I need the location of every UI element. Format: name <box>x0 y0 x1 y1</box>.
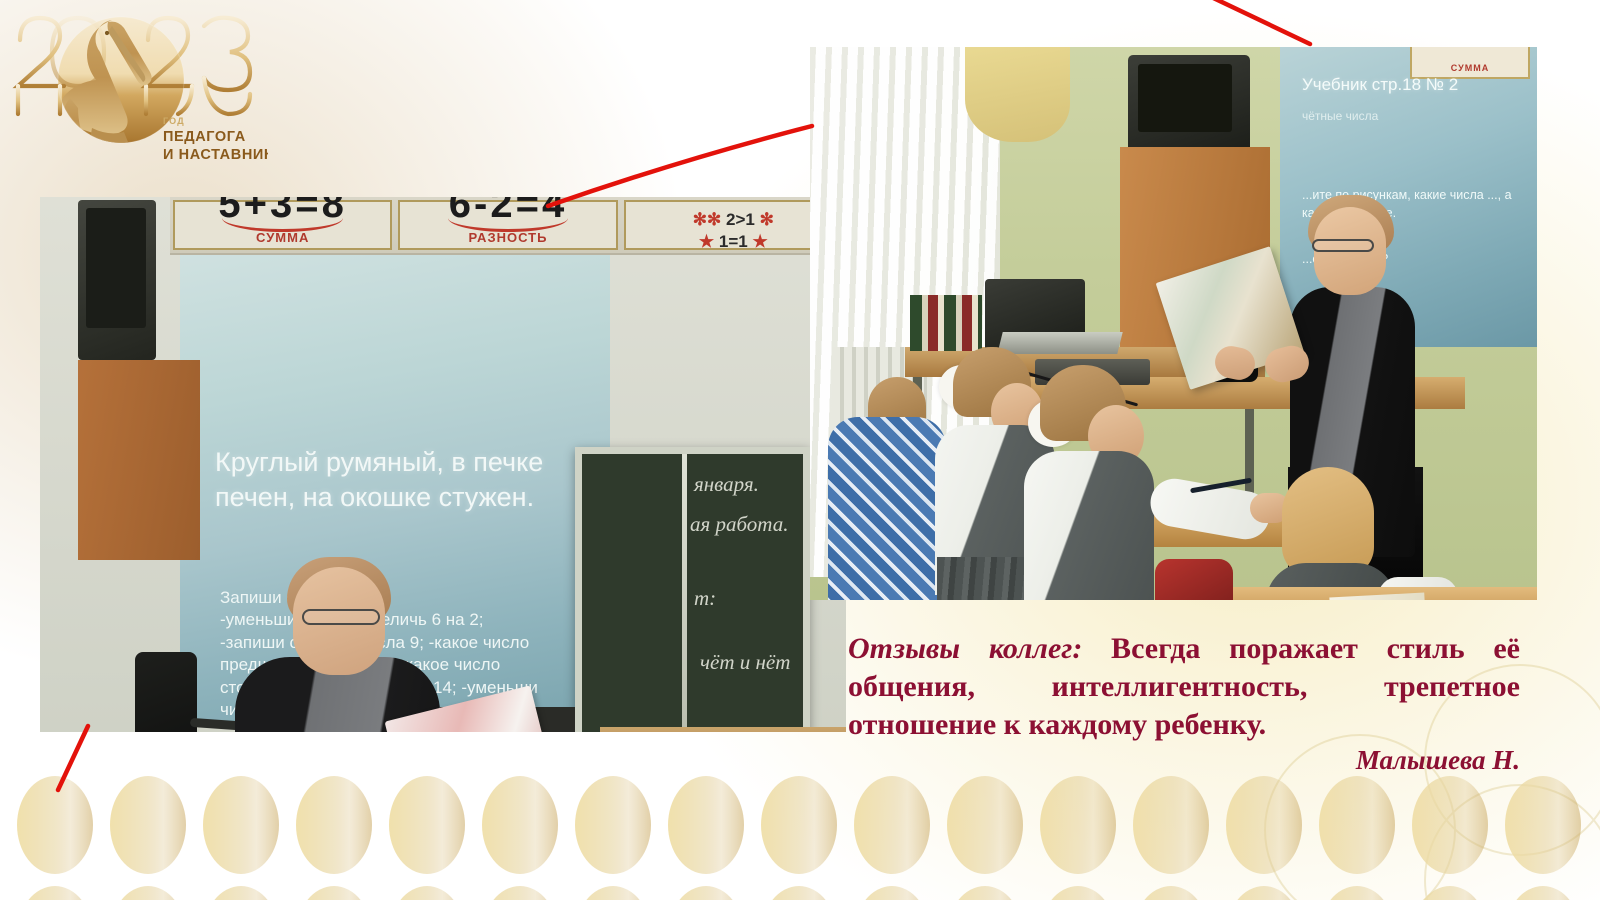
poster-comparison-top: 2>1 <box>726 210 755 229</box>
blackboard-divider <box>682 454 687 732</box>
star-icon: ★ <box>752 232 767 251</box>
task-line: -уменьши 8 на 3; -увеличь 6 на 2; <box>220 609 600 631</box>
slide-canvas: ГОД ПЕДАГОГА И НАСТАВНИКА 5+3=8 СУММА 6-… <box>0 0 1600 900</box>
student-desk <box>600 727 846 732</box>
red-curve-upper-left <box>548 126 812 206</box>
chalk-line: января. <box>694 472 759 497</box>
red-line-bottom-left <box>58 726 88 790</box>
photo-teacher-with-pupils: СУММА Учебник стр.18 № 2 чётные числа ..… <box>810 47 1537 600</box>
poster-summa: 5+3=8 СУММА <box>173 200 392 250</box>
logo-line-nastavnika: И НАСТАВНИКА <box>163 147 268 163</box>
logo-year-of-teacher: ГОД ПЕДАГОГА И НАСТАВНИКА <box>8 2 268 177</box>
poster-raznost-label: РАЗНОСТЬ <box>400 230 615 245</box>
projection-subtitle: чётные числа <box>1302 109 1532 123</box>
poster-comparison-bottom: 1=1 <box>719 232 748 251</box>
flower-icon: ✻✻ <box>693 210 722 229</box>
backpack <box>1155 559 1233 600</box>
flower-icon: ✻ <box>760 210 774 229</box>
bottom-ellipse-pattern <box>0 770 1600 900</box>
red-line-top-right <box>1205 0 1310 44</box>
laptop <box>997 332 1122 354</box>
poster-raznost: 6-2=4 РАЗНОСТЬ <box>398 200 617 250</box>
books-stack <box>910 295 982 351</box>
office-chair <box>135 652 197 732</box>
star-icon: ★ <box>699 232 714 251</box>
tv-screen <box>1138 64 1232 132</box>
task-line: Запиши ответы: <box>220 587 600 609</box>
teacher-glasses-icon <box>302 609 380 625</box>
poster-summa-label: СУММА <box>1412 63 1528 73</box>
photo-teacher-whiteboard: 5+3=8 СУММА 6-2=4 РАЗНОСТЬ ✻✻ 2>1 ✻ ★ 1=… <box>40 197 846 732</box>
wooden-cabinet <box>78 360 200 560</box>
wall-tv <box>1128 55 1250 153</box>
blackboard: января. ая работа. т: чёт и нёт <box>575 447 810 732</box>
projection-riddle-text: Круглый румяный, в печке печен, на окошк… <box>215 445 585 514</box>
wall-tv <box>78 200 156 360</box>
chalk-line: чёт и нёт <box>700 650 790 675</box>
colleague-review-quote: Отзывы коллег: Всегда поражает стиль её … <box>848 630 1520 743</box>
tv-screen <box>86 208 146 328</box>
task-line: -запиши соседей числа 9; -какое число <box>220 632 600 654</box>
logo-line-god: ГОД <box>163 116 185 126</box>
poster-summa-label: СУММА <box>175 230 390 245</box>
teacher-glasses-icon <box>1312 239 1374 252</box>
wall-poster-strip: 5+3=8 СУММА 6-2=4 РАЗНОСТЬ ✻✻ 2>1 ✻ ★ 1=… <box>170 197 846 255</box>
quote-lead-label: Отзывы коллег: <box>848 632 1082 665</box>
logo-line-pedagoga: ПЕДАГОГА <box>163 129 246 145</box>
quote-signature: Малышева Н. <box>848 745 1520 776</box>
chalk-line: т: <box>694 586 716 611</box>
projection-title: Учебник стр.18 № 2 <box>1302 75 1532 95</box>
curtain-valance <box>965 47 1070 142</box>
chalk-line: ая работа. <box>690 512 788 537</box>
